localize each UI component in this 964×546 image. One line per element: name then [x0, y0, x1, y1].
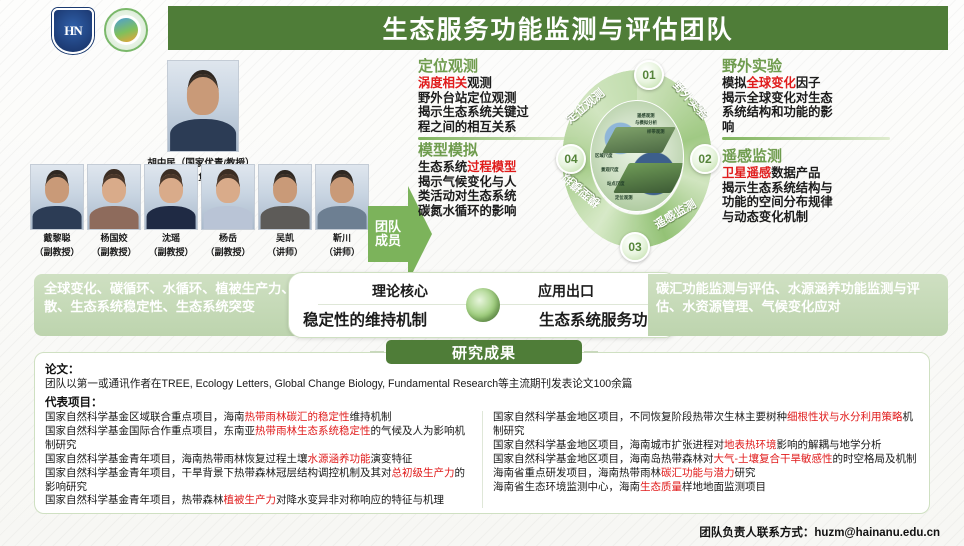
- member-portrait: [258, 164, 312, 230]
- method-block-dingwei-guance: 定位观测 涡度相关观测 野外台站定位观测 揭示生态系统关键过 程之间的相互关系: [418, 58, 578, 142]
- member-portrait: [201, 164, 255, 230]
- logo-hn-text: HN: [64, 23, 82, 39]
- method-heading: 定位观测: [418, 58, 578, 75]
- research-results-label: 研究成果: [452, 342, 516, 363]
- application-outlet-value: 生态系统服务功能: [539, 308, 663, 330]
- member-name: 戴黎聪: [30, 231, 84, 244]
- research-cycle-diagram: 定位观测 野外实验 遥感监测 模型模拟 遥感观测 与模拟分析 样带观测 区域尺度…: [556, 56, 718, 268]
- cycle-node-02[interactable]: 02: [690, 144, 720, 174]
- leader-portrait: [167, 60, 239, 152]
- application-outlet-label: 应用出口: [538, 281, 594, 301]
- papers-text: 团队以第一或通讯作者在TREE, Ecology Letters, Global…: [45, 378, 919, 392]
- page-footer: 团队负责人联系方式：huzm@hainanu.edu.cn: [0, 518, 964, 546]
- list-item: 杨国姣 （副教授）: [87, 164, 141, 258]
- member-title: （副教授）: [144, 245, 198, 258]
- hainan-university-logo-icon: HN: [52, 8, 94, 54]
- core-theory-application-banner: 理论核心 应用出口 稳定性的维持机制 生态系统服务功能: [288, 272, 678, 338]
- contact-info: 团队负责人联系方式：huzm@hainanu.edu.cn: [699, 524, 940, 540]
- member-title: （副教授）: [30, 245, 84, 258]
- member-name: 杨岳: [201, 231, 255, 244]
- team-member-list: 戴黎聪 （副教授） 杨国姣 （副教授） 沈瑶 （副教授） 杨岳 （副教授） 吴凯…: [30, 164, 370, 258]
- contact-email[interactable]: huzm@hainanu.edu.cn: [814, 527, 940, 539]
- earth-globe-icon: [466, 288, 500, 322]
- member-name: 沈瑶: [144, 231, 198, 244]
- cycle-node-03[interactable]: 03: [620, 232, 650, 262]
- page-header: HN 生态服务功能监测与评估团队: [0, 0, 964, 58]
- member-title: （副教授）: [87, 245, 141, 258]
- cycle-node-04[interactable]: 04: [556, 144, 586, 174]
- list-item: 国家自然科学基金地区项目，海南岛热带森林对大气-土壤复合干旱敏感性的时空格局及机…: [493, 453, 919, 467]
- keywords-left-text: 全球变化、碳循环、水循环、植被生产力、蒸散、生态系统稳定性、生态系统突变: [44, 280, 326, 315]
- arrow-label: 团队成员: [375, 220, 401, 247]
- list-item: 国家自然科学基金区域联合重点项目，海南热带雨林碳汇的稳定性维持机制: [45, 411, 472, 425]
- projects-left-column: 国家自然科学基金区域联合重点项目，海南热带雨林碳汇的稳定性维持机制 国家自然科学…: [45, 411, 472, 509]
- member-portrait: [315, 164, 369, 230]
- method-block-yewai-shiyan: 野外实验 模拟全球变化因子 揭示全球变化对生态 系统结构和功能的影 响: [722, 58, 890, 142]
- theory-core-label: 理论核心: [372, 281, 428, 301]
- divider: [722, 137, 890, 140]
- list-item: 海南省生态环境监测中心，海南生态质量样地地面监测项目: [493, 481, 919, 495]
- center-label-transect: 样带观测: [647, 129, 665, 135]
- center-label-landscape-scale: 景观尺度: [601, 167, 619, 173]
- cycle-node-01[interactable]: 01: [634, 60, 664, 90]
- list-item: 国家自然科学基金国际合作重点项目，东南亚热带雨林生态系统稳定性的气候及人为影响机…: [45, 425, 472, 453]
- research-results-panel: 论文： 团队以第一或通讯作者在TREE, Ecology Letters, Gl…: [34, 352, 930, 514]
- divider: [418, 137, 578, 140]
- contact-label: 团队负责人联系方式：: [699, 527, 814, 539]
- projects-heading: 代表项目：: [45, 394, 919, 410]
- method-heading: 遥感监测: [722, 148, 890, 165]
- college-logo-inner: [114, 18, 138, 42]
- member-name: 靳川: [315, 231, 369, 244]
- method-heading: 模型模拟: [418, 142, 578, 159]
- member-title: （副教授）: [201, 245, 255, 258]
- member-portrait: [87, 164, 141, 230]
- center-label-simulation: 与模拟分析: [635, 120, 657, 126]
- member-name: 杨国姣: [87, 231, 141, 244]
- member-name: 吴凯: [258, 231, 312, 244]
- list-item: 国家自然科学基金青年项目，干旱背景下热带森林冠层结构调控机制及其对总初级生产力的…: [45, 467, 472, 495]
- landscape-slab-lower: [613, 163, 684, 193]
- keywords-banner-right: 碳汇功能监测与评估、水源涵养功能监测与评估、水资源管理、气候变化应对: [648, 274, 948, 336]
- list-item: 国家自然科学基金地区项目，不同恢复阶段热带次生林主要树种细根性状与水分利用策略机…: [493, 411, 919, 439]
- method-block-yaogan-jiance: 遥感监测 卫星遥感数据产品 揭示生态系统结构与 功能的空间分布规律 与动态变化机…: [722, 148, 890, 224]
- list-item: 海南省重点研发项目，海南热带雨林碳汇功能与潜力研究: [493, 467, 919, 481]
- method-heading: 野外实验: [722, 58, 890, 75]
- center-label-site-scale: 站点尺度: [607, 181, 625, 187]
- list-item: 杨岳 （副教授）: [201, 164, 255, 258]
- theory-core-value: 稳定性的维持机制: [303, 308, 427, 330]
- method-body: 生态系统过程模型 揭示气候变化与人 类活动对生态系统 碳氮水循环的影响: [418, 160, 578, 218]
- list-item: 戴黎聪 （副教授）: [30, 164, 84, 258]
- ecology-college-logo-icon: [104, 8, 148, 52]
- page-title-bar: 生态服务功能监测与评估团队: [168, 6, 948, 50]
- center-label-station-observation: 定位观测: [615, 195, 633, 201]
- center-label-regional-scale: 区域尺度: [595, 153, 613, 159]
- method-body: 模拟全球变化因子 揭示全球变化对生态 系统结构和功能的影 响: [722, 76, 890, 134]
- team-people-section: 胡中民（国家优青/教授） 团队负责人 戴黎聪 （副教授） 杨国姣 （副教授） 沈…: [0, 56, 400, 268]
- list-item: 国家自然科学基金地区项目，海南城市扩张进程对地表热环境影响的解耦与地学分析: [493, 439, 919, 453]
- center-label-remote-sensing: 遥感观测: [637, 113, 655, 119]
- arrow-body: 团队成员: [368, 206, 408, 262]
- keywords-right-text: 碳汇功能监测与评估、水源涵养功能监测与评估、水资源管理、气候变化应对: [656, 280, 938, 315]
- list-item: 国家自然科学基金青年项目，热带森林植被生产力对降水变异非对称响应的特征与机理: [45, 494, 472, 508]
- member-title: （讲师）: [315, 245, 369, 258]
- member-portrait: [30, 164, 84, 230]
- member-title: （讲师）: [258, 245, 312, 258]
- list-item: 靳川 （讲师）: [315, 164, 369, 258]
- projects-columns: 国家自然科学基金区域联合重点项目，海南热带雨林碳汇的稳定性维持机制 国家自然科学…: [45, 411, 919, 509]
- method-body: 涡度相关观测 野外台站定位观测 揭示生态系统关键过 程之间的相互关系: [418, 76, 578, 134]
- earth-scale-illustration: 遥感观测 与模拟分析 样带观测 区域尺度 景观尺度 站点尺度 定位观测: [590, 100, 684, 212]
- list-item: 吴凯 （讲师）: [258, 164, 312, 258]
- method-body: 卫星遥感数据产品 揭示生态系统结构与 功能的空间分布规律 与动态变化机制: [722, 166, 890, 224]
- page-title: 生态服务功能监测与评估团队: [382, 10, 733, 46]
- projects-right-column: 国家自然科学基金地区项目，不同恢复阶段热带次生林主要树种细根性状与水分利用策略机…: [482, 411, 919, 509]
- list-item: 国家自然科学基金青年项目，海南热带雨林恢复过程土壤水源涵养功能演变特征: [45, 453, 472, 467]
- member-portrait: [144, 164, 198, 230]
- list-item: 沈瑶 （副教授）: [144, 164, 198, 258]
- research-results-tab: 研究成果: [386, 340, 582, 364]
- method-block-moxing-moni: 模型模拟 生态系统过程模型 揭示气候变化与人 类活动对生态系统 碳氮水循环的影响: [418, 142, 578, 218]
